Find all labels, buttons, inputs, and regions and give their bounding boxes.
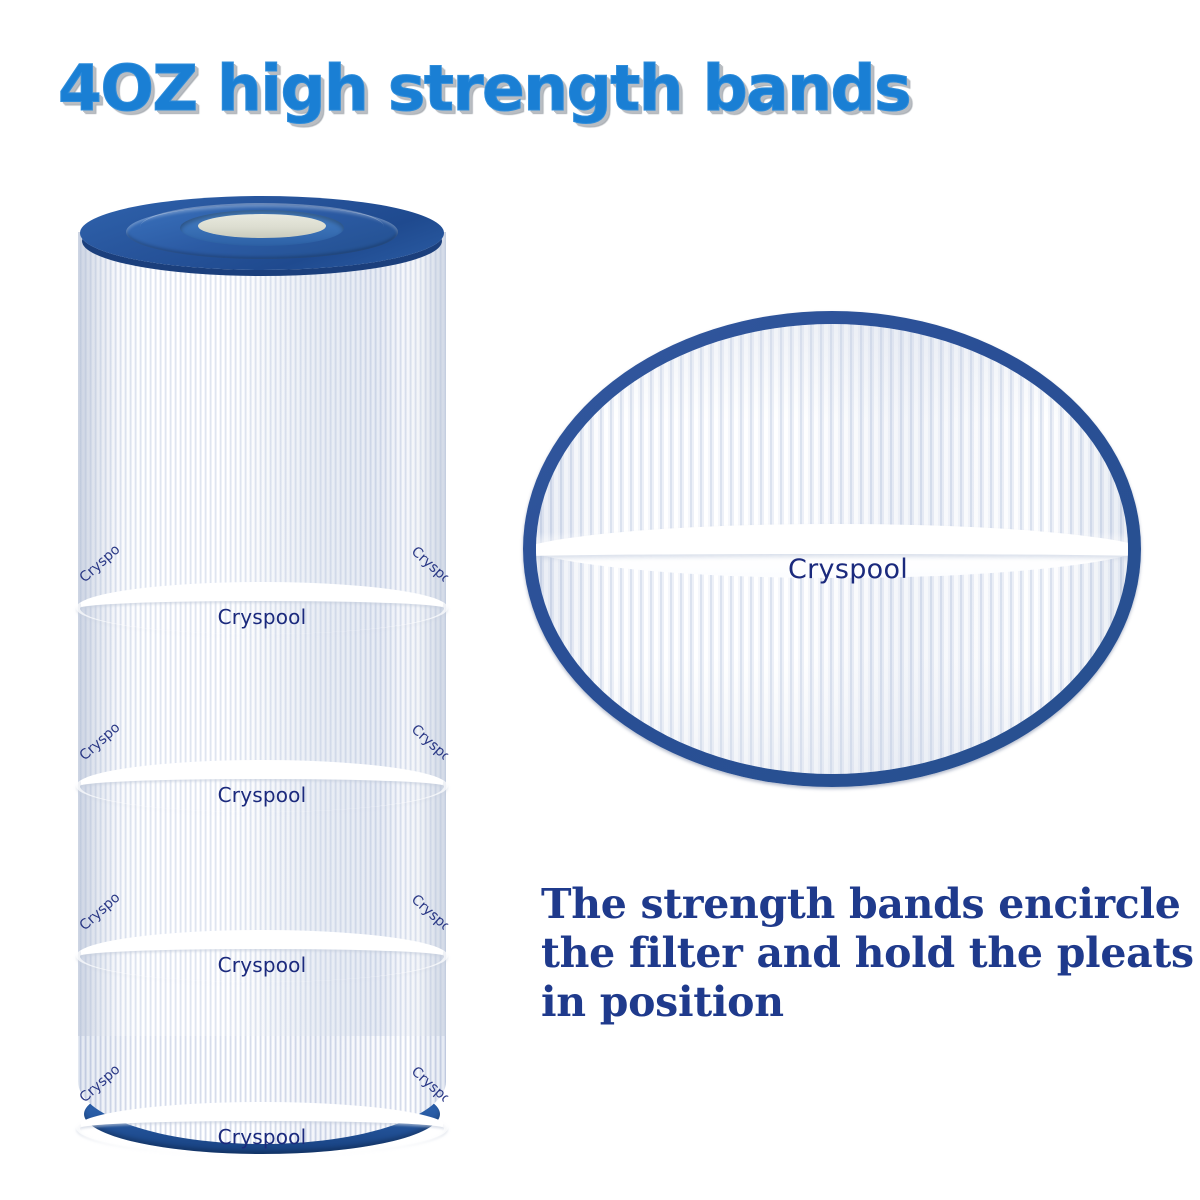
band-brand-label: Cryspool [76, 783, 448, 807]
band-brand-label: Cryspool [76, 1125, 448, 1149]
filter-cartridge-image: Cryspool Cryspool Cryspool Cryspool Crys… [78, 196, 446, 1161]
callout-pleat-closeup: Cryspool [536, 324, 1128, 774]
strength-band: Cryspool Cryspool Cryspool [76, 1102, 448, 1148]
magnified-detail-callout: Cryspool [523, 311, 1141, 787]
cartridge-pleated-body [78, 232, 446, 1132]
pleat-texture [78, 232, 446, 1132]
product-infographic: 4OZ high strength bands Cryspool Cryspoo… [0, 0, 1200, 1200]
band-brand-label: Cryspool [76, 605, 448, 629]
cap-center-core [198, 214, 326, 238]
band-brand-label: Cryspool [76, 953, 448, 977]
strength-band: Cryspool Cryspool Cryspool [76, 582, 448, 628]
caption-line-3: in position [541, 978, 1141, 1027]
caption-text: The strength bands encircle the filter a… [541, 880, 1141, 1027]
cartridge-top-cap [80, 196, 444, 280]
caption-line-2: the filter and hold the pleats [541, 929, 1141, 978]
page-title: 4OZ high strength bands [58, 52, 910, 125]
strength-band: Cryspool Cryspool Cryspool [76, 930, 448, 976]
caption-line-1: The strength bands encircle [541, 880, 1141, 929]
callout-brand-label: Cryspool [788, 554, 908, 585]
strength-band: Cryspool Cryspool Cryspool [76, 760, 448, 806]
